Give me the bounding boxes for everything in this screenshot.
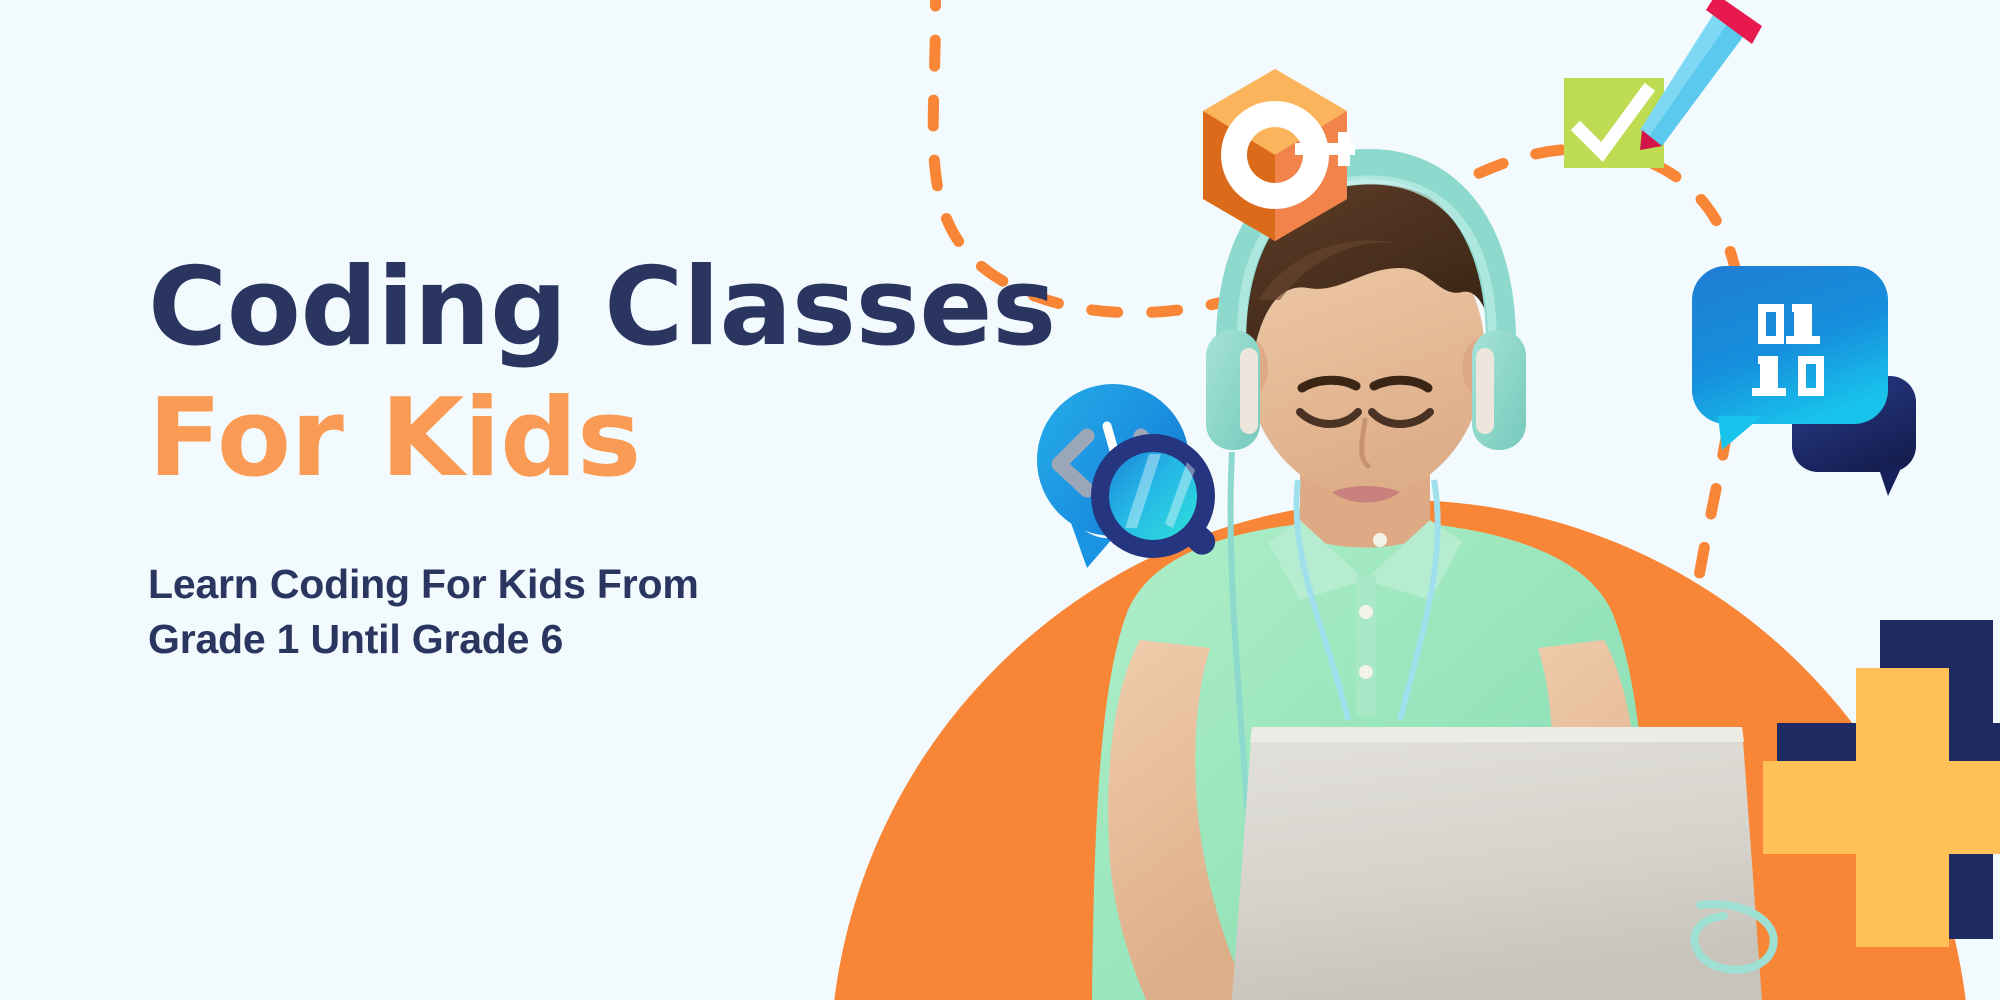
binary-digits xyxy=(1752,304,1824,396)
binary-speech-bubble-icon xyxy=(1688,258,1920,500)
back-bubble xyxy=(1792,376,1916,496)
page-title-line-2: For Kids xyxy=(148,386,988,493)
cpp-hexagon-logo: C++ xyxy=(1195,65,1355,245)
front-bubble xyxy=(1692,266,1888,450)
blue-pen-icon xyxy=(1640,0,1762,150)
hero-text-block: Coding Classes For Kids Learn Coding For… xyxy=(148,255,988,667)
code-chevrons xyxy=(1059,436,1169,490)
magnifier-glass xyxy=(1091,434,1221,560)
plus-back xyxy=(1777,620,2000,939)
page-title-line-1: Coding Classes xyxy=(148,255,988,362)
plus-front xyxy=(1763,668,2000,947)
banner-root: C++ xyxy=(0,0,2000,1000)
green-checkbox-icon xyxy=(1530,0,1790,220)
subtitle-line-2: Grade 1 Until Grade 6 xyxy=(148,612,988,667)
code-magnifier-icon xyxy=(1025,378,1235,578)
subtitle-line-1: Learn Coding For Kids From xyxy=(148,557,988,612)
